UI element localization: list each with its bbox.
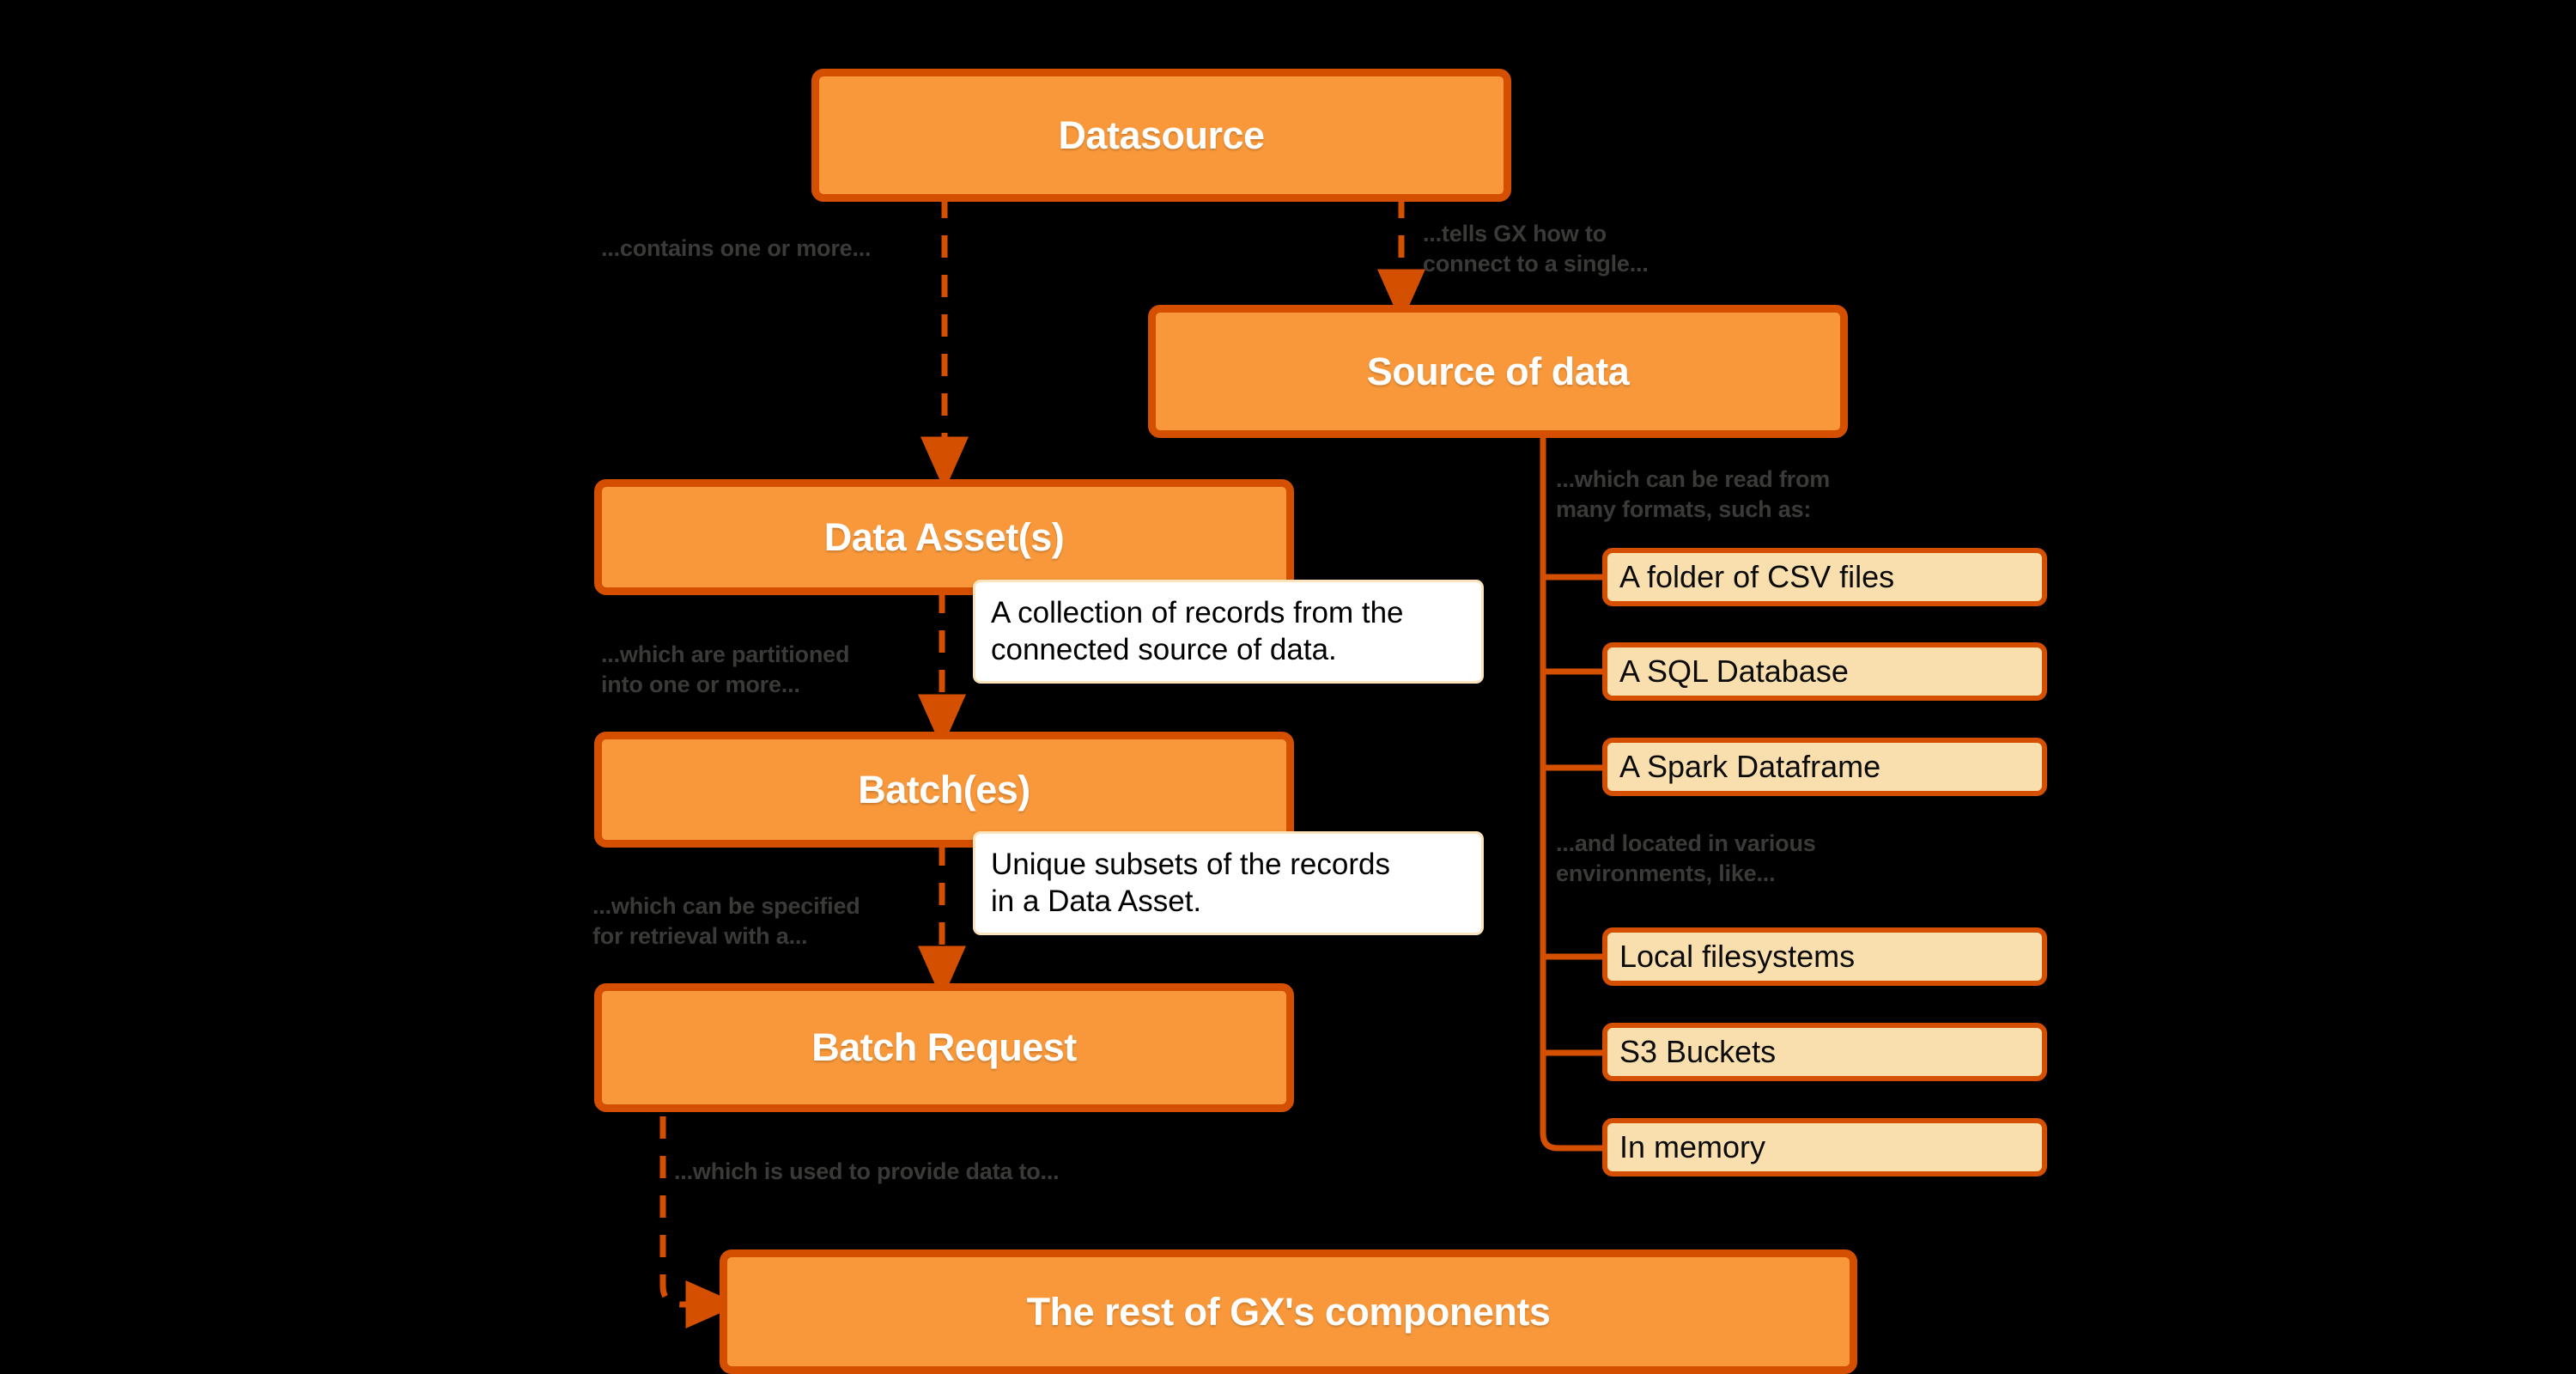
- node-rest-of-gx-label: The rest of GX's components: [1027, 1291, 1551, 1334]
- leaf-a-folder-of-csv-files[interactable]: A folder of CSV files: [1602, 548, 2047, 606]
- tooltip-batches: Unique subsets of the records in a Data …: [973, 831, 1484, 935]
- node-batches[interactable]: Batch(es): [594, 732, 1294, 848]
- node-batch-request[interactable]: Batch Request: [594, 983, 1294, 1112]
- node-rest-of-gx[interactable]: The rest of GX's components: [720, 1249, 1857, 1374]
- edge-label-which-can-be-read-from: ...which can be read from many formats, …: [1556, 465, 1917, 524]
- leaf-in-memory-label: In memory: [1619, 1129, 1765, 1164]
- edge-label-tells-gx-how-to-connect: ...tells GX how to connect to a single..…: [1423, 219, 1715, 278]
- edge-label-which-is-used-to-provide: ...which is used to provide data to...: [674, 1157, 1206, 1187]
- edge-label-which-can-be-specified: ...which can be specified for retrieval …: [592, 891, 932, 951]
- leaf-a-folder-of-csv-files-label: A folder of CSV files: [1619, 559, 1894, 594]
- leaf-s3-buckets[interactable]: S3 Buckets: [1602, 1023, 2047, 1081]
- leaf-a-spark-dataframe-label: A Spark Dataframe: [1619, 749, 1880, 784]
- leaf-a-sql-database-label: A SQL Database: [1619, 654, 1849, 689]
- edge-batch-request-to-rest-of-gx: [663, 1116, 713, 1304]
- diagram-canvas: Datasource Source of data Data Asset(s) …: [0, 0, 2576, 1374]
- edge-label-contains-one-or-more: ...contains one or more...: [601, 234, 936, 264]
- leaf-local-filesystems[interactable]: Local filesystems: [1602, 927, 2047, 986]
- node-data-assets-label: Data Asset(s): [824, 516, 1064, 559]
- tooltip-data-assets: A collection of records from the connect…: [973, 580, 1484, 684]
- node-batches-label: Batch(es): [858, 769, 1030, 812]
- node-data-assets[interactable]: Data Asset(s): [594, 479, 1294, 595]
- node-source-of-data[interactable]: Source of data: [1148, 305, 1848, 438]
- node-datasource[interactable]: Datasource: [811, 69, 1511, 202]
- leaf-local-filesystems-label: Local filesystems: [1619, 939, 1855, 974]
- leaf-s3-buckets-label: S3 Buckets: [1619, 1034, 1776, 1069]
- node-datasource-label: Datasource: [1058, 114, 1264, 157]
- edge-label-and-located-in-various: ...and located in various environments, …: [1556, 829, 1917, 888]
- connector-layer: [0, 0, 2576, 1374]
- leaf-a-sql-database[interactable]: A SQL Database: [1602, 642, 2047, 701]
- leaf-in-memory[interactable]: In memory: [1602, 1118, 2047, 1176]
- edge-source-of-data-trunk: [1543, 433, 1602, 1148]
- edge-label-which-are-partitioned: ...which are partitioned into one or mor…: [601, 640, 936, 699]
- node-source-of-data-label: Source of data: [1367, 350, 1630, 393]
- leaf-a-spark-dataframe[interactable]: A Spark Dataframe: [1602, 738, 2047, 796]
- node-batch-request-label: Batch Request: [811, 1026, 1077, 1069]
